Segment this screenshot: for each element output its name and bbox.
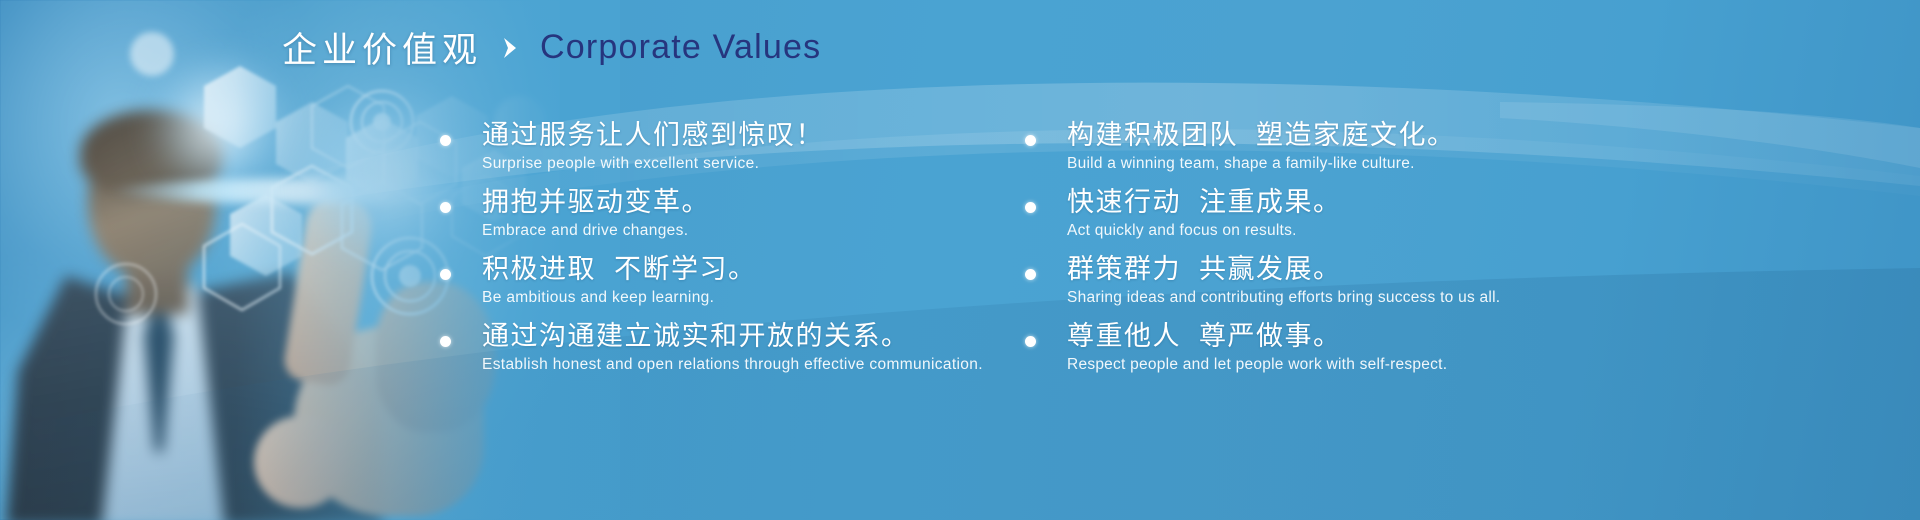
value-text: 构建积极团队 塑造家庭文化。 Build a winning team, sha…: [1067, 118, 1456, 175]
value-label-en: Embrace and drive changes.: [482, 220, 710, 242]
bullet-dot-icon: [1025, 269, 1036, 280]
value-label-en: Be ambitious and keep learning.: [482, 287, 757, 309]
bullet-dot-icon: [1025, 336, 1036, 347]
bullet-dot-icon: [440, 269, 451, 280]
value-item: 构建积极团队 塑造家庭文化。 Build a winning team, sha…: [1025, 118, 1625, 185]
value-item: 拥抱并驱动变革。 Embrace and drive changes.: [440, 185, 1060, 252]
values-columns: 通过服务让人们感到惊叹！ Surprise people with excell…: [0, 118, 1920, 418]
value-text: 尊重他人 尊严做事。 Respect people and let people…: [1067, 319, 1447, 376]
page-title-en: Corporate Values: [540, 28, 821, 67]
value-item: 通过服务让人们感到惊叹！ Surprise people with excell…: [440, 118, 1060, 185]
value-label-cn: 拥抱并驱动变革。: [482, 185, 710, 219]
value-label-en: Build a winning team, shape a family-lik…: [1067, 153, 1456, 175]
value-text: 通过沟通建立诚实和开放的关系。 Establish honest and ope…: [482, 319, 983, 376]
bullet-dot-icon: [1025, 202, 1036, 213]
banner-content: 企业价值观 Corporate Values 通过服务让人们感到惊叹！ Surp…: [0, 0, 1920, 520]
value-label-cn: 积极进取 不断学习。: [482, 252, 757, 286]
value-text: 群策群力 共赢发展。 Sharing ideas and contributin…: [1067, 252, 1500, 309]
banner-header: 企业价值观 Corporate Values: [282, 22, 821, 73]
corporate-values-banner: 企业价值观 Corporate Values 通过服务让人们感到惊叹！ Surp…: [0, 0, 1920, 520]
value-label-cn: 群策群力 共赢发展。: [1067, 252, 1500, 286]
value-label-cn: 通过服务让人们感到惊叹！: [482, 118, 824, 152]
bullet-dot-icon: [440, 202, 451, 213]
value-text: 通过服务让人们感到惊叹！ Surprise people with excell…: [482, 118, 824, 175]
values-column-left: 通过服务让人们感到惊叹！ Surprise people with excell…: [440, 118, 1060, 386]
page-title-cn: 企业价值观: [282, 22, 482, 73]
value-label-cn: 尊重他人 尊严做事。: [1067, 319, 1447, 353]
value-item: 群策群力 共赢发展。 Sharing ideas and contributin…: [1025, 252, 1625, 319]
value-text: 快速行动 注重成果。 Act quickly and focus on resu…: [1067, 185, 1342, 242]
value-item: 尊重他人 尊严做事。 Respect people and let people…: [1025, 319, 1625, 386]
value-label-en: Surprise people with excellent service.: [482, 153, 824, 175]
value-label-cn: 构建积极团队 塑造家庭文化。: [1067, 118, 1456, 152]
value-label-en: Act quickly and focus on results.: [1067, 220, 1342, 242]
value-text: 积极进取 不断学习。 Be ambitious and keep learnin…: [482, 252, 757, 309]
value-label-cn: 通过沟通建立诚实和开放的关系。: [482, 319, 983, 353]
bullet-dot-icon: [1025, 135, 1036, 146]
value-item: 通过沟通建立诚实和开放的关系。 Establish honest and ope…: [440, 319, 1060, 386]
chevron-right-icon: [500, 34, 522, 62]
value-label-cn: 快速行动 注重成果。: [1067, 185, 1342, 219]
values-column-right: 构建积极团队 塑造家庭文化。 Build a winning team, sha…: [1025, 118, 1625, 386]
value-text: 拥抱并驱动变革。 Embrace and drive changes.: [482, 185, 710, 242]
bullet-dot-icon: [440, 336, 451, 347]
value-item: 积极进取 不断学习。 Be ambitious and keep learnin…: [440, 252, 1060, 319]
value-label-en: Establish honest and open relations thro…: [482, 354, 983, 376]
value-item: 快速行动 注重成果。 Act quickly and focus on resu…: [1025, 185, 1625, 252]
value-label-en: Sharing ideas and contributing efforts b…: [1067, 287, 1500, 309]
bullet-dot-icon: [440, 135, 451, 146]
value-label-en: Respect people and let people work with …: [1067, 354, 1447, 376]
